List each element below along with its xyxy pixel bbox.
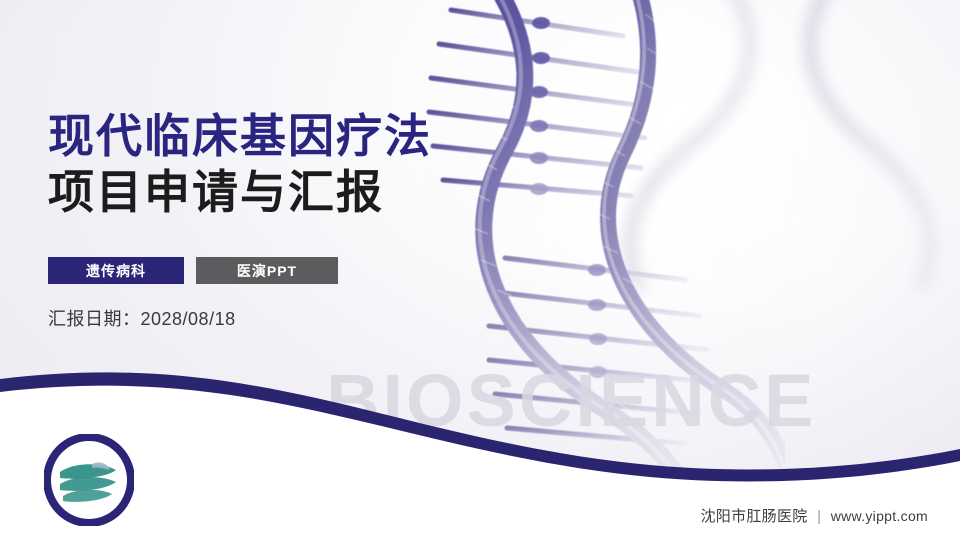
tag-group: 遗传病科 医演PPT xyxy=(48,257,338,284)
tag-template[interactable]: 医演PPT xyxy=(196,257,338,284)
title-line-2: 项目申请与汇报 xyxy=(48,164,432,220)
footer: 沈阳市肛肠医院 | www.yippt.com xyxy=(700,505,928,526)
footer-separator: | xyxy=(817,508,821,525)
tag-department[interactable]: 遗传病科 xyxy=(48,257,184,284)
cover-slide: BIOSCIENCE xyxy=(0,0,960,540)
page-title: 现代临床基因疗法 项目申请与汇报 xyxy=(48,108,432,220)
footer-website[interactable]: www.yippt.com xyxy=(831,508,928,524)
report-date: 汇报日期：2028/08/18 xyxy=(48,305,236,331)
title-line-1: 现代临床基因疗法 xyxy=(48,108,432,164)
footer-organization: 沈阳市肛肠医院 xyxy=(700,508,807,525)
hospital-logo-icon xyxy=(44,434,134,526)
